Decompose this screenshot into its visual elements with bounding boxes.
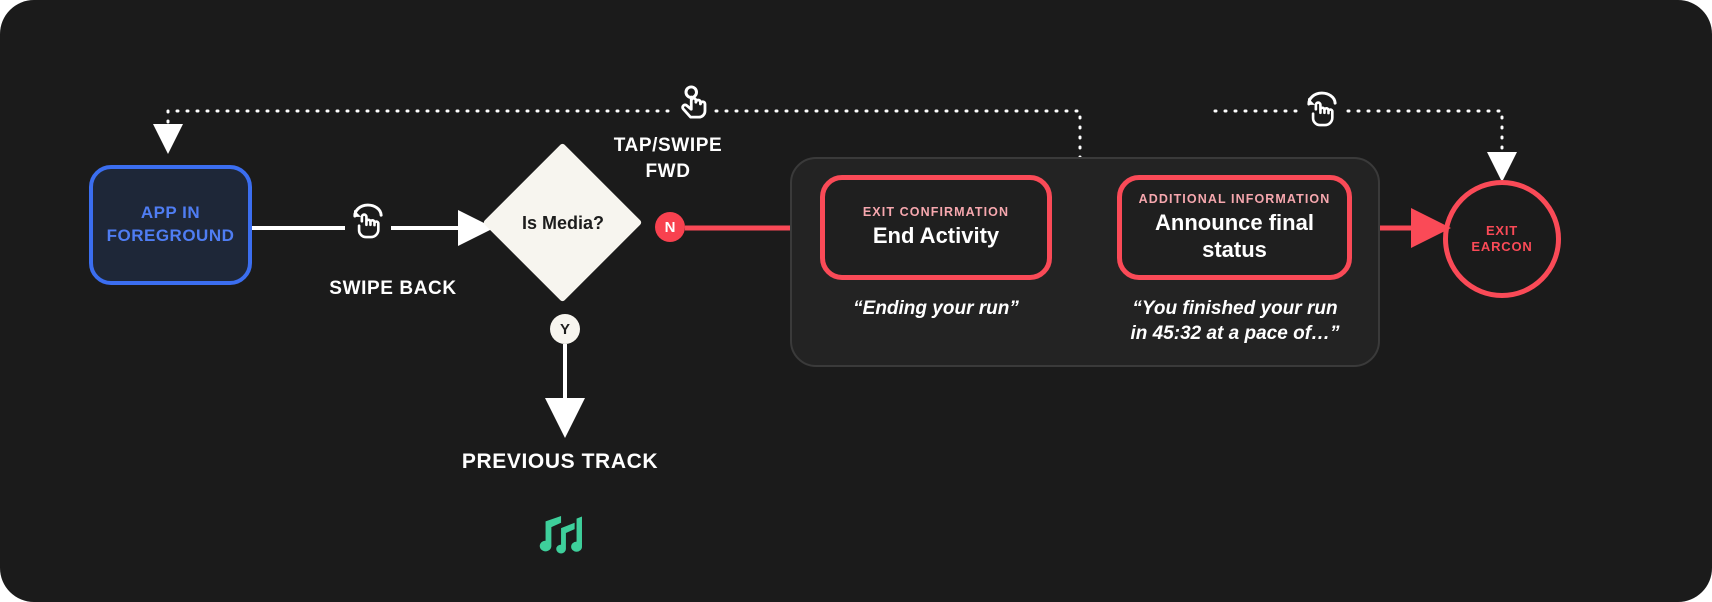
card-kicker: ADDITIONAL INFORMATION	[1139, 192, 1331, 206]
app-node-label: APP IN FOREGROUND	[107, 202, 235, 248]
card-title: Announce final status	[1155, 210, 1314, 264]
diagram-canvas: APP IN FOREGROUND SWIPE BACK Is Media? N…	[0, 0, 1712, 602]
branch-badge-yes: Y	[550, 314, 580, 344]
node-exit-earcon[interactable]: EXIT EARCON	[1443, 180, 1561, 298]
card-title: End Activity	[873, 223, 999, 250]
previous-track-caption: PREVIOUS TRACK	[400, 450, 720, 474]
branch-badge-no: N	[655, 212, 685, 242]
quote-exit-confirmation: “Ending your run”	[820, 297, 1052, 322]
music-notes-icon	[532, 500, 594, 562]
node-app-in-foreground[interactable]: APP IN FOREGROUND	[89, 165, 252, 285]
card-additional-information[interactable]: ADDITIONAL INFORMATION Announce final st…	[1117, 175, 1352, 280]
tap-gesture-icon	[672, 83, 714, 125]
card-exit-confirmation[interactable]: EXIT CONFIRMATION End Activity	[820, 175, 1052, 280]
tap-swipe-fwd-caption: TAP/SWIPE FWD	[568, 133, 768, 184]
swipe-back-gesture-icon-right	[1301, 90, 1343, 132]
swipe-back-gesture-icon	[347, 202, 389, 244]
quote-additional-information: “You finished your run in 45:32 at a pac…	[1110, 297, 1360, 346]
swipe-back-caption: SWIPE BACK	[268, 278, 518, 300]
earcon-label: EXIT EARCON	[1471, 223, 1532, 256]
card-kicker: EXIT CONFIRMATION	[863, 205, 1009, 219]
